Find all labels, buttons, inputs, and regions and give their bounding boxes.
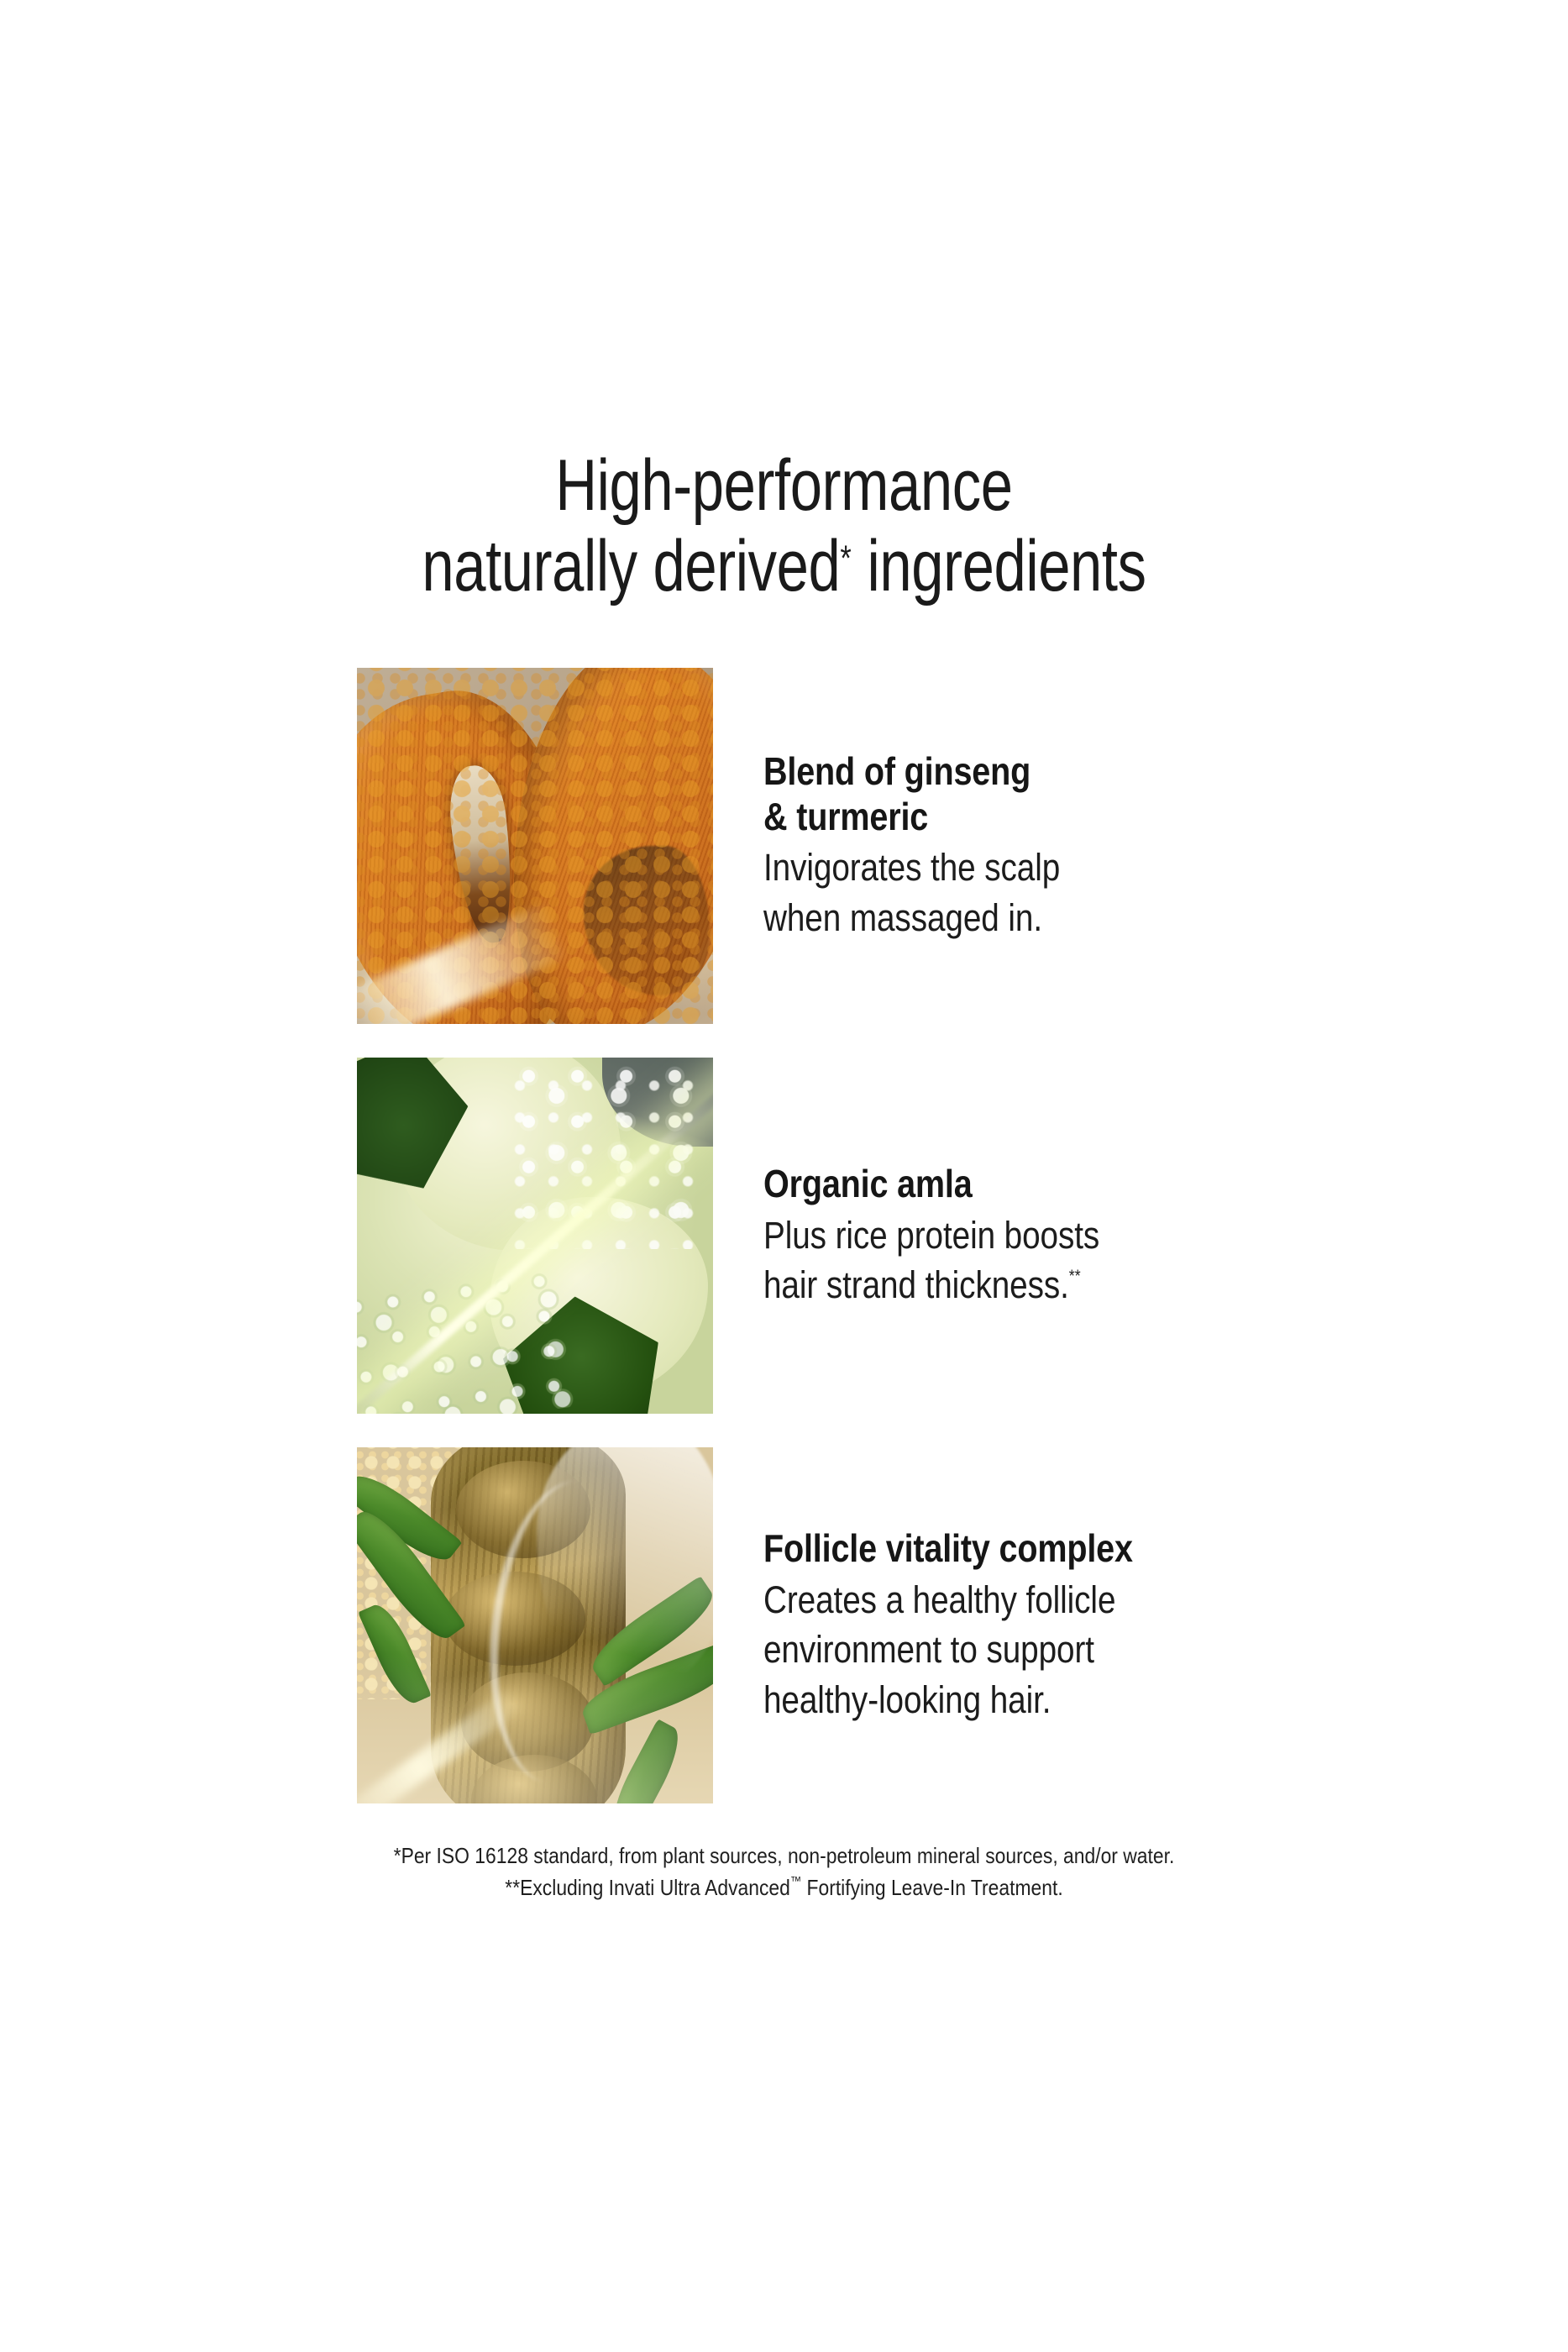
ingredient-description: Invigorates the scalp when massaged in. <box>763 843 1313 942</box>
ingredient-description-line-1: Plus rice protein boosts <box>763 1214 1099 1257</box>
footnote-line-1: *Per ISO 16128 standard, from plant sour… <box>94 1840 1474 1872</box>
footnotes: *Per ISO 16128 standard, from plant sour… <box>94 1840 1474 1904</box>
ingredient-row: Organic amla Plus rice protein boosts ha… <box>357 1058 1449 1414</box>
ingredient-description-line-3: healthy-looking hair. <box>763 1678 1051 1721</box>
ingredient-list: Blend of ginseng & turmeric Invigorates … <box>357 668 1449 1803</box>
ingredient-description: Plus rice protein boosts hair strand thi… <box>763 1210 1313 1310</box>
ingredient-copy: Follicle vitality complex Creates a heal… <box>763 1526 1313 1725</box>
ingredient-row: Blend of ginseng & turmeric Invigorates … <box>357 668 1449 1024</box>
golden-haze-overlay <box>357 1447 713 1803</box>
footnote-line-2-tail: Fortifying Leave-In Treatment. <box>801 1875 1063 1900</box>
ingredients-page: High-performance naturally derived* ingr… <box>0 0 1568 2352</box>
ingredient-description-line-1: Invigorates the scalp <box>763 846 1060 889</box>
ingredient-copy: Blend of ginseng & turmeric Invigorates … <box>763 749 1313 942</box>
footnote-line-2: **Excluding Invati Ultra Advanced™ Forti… <box>94 1872 1474 1903</box>
ingredient-description: Creates a healthy follicle environment t… <box>763 1575 1313 1725</box>
page-title-line-1: High-performance <box>157 445 1412 526</box>
trademark-icon: ™ <box>790 1875 801 1889</box>
footnote-marker-double-asterisk: ** <box>1069 1266 1081 1285</box>
page-title-line-2-text: naturally derived <box>422 526 840 606</box>
page-title: High-performance naturally derived* ingr… <box>157 445 1412 607</box>
footnote-line-2-text: **Excluding Invati Ultra Advanced <box>505 1875 790 1900</box>
page-title-line-2-tail: ingredients <box>852 526 1146 606</box>
ingredient-description-line-1: Creates a healthy follicle <box>763 1578 1115 1621</box>
ingredient-description-line-2: hair strand thickness. <box>763 1263 1069 1306</box>
ingredient-title-line-2: & turmeric <box>763 795 928 838</box>
ingredient-description-line-2: environment to support <box>763 1628 1094 1671</box>
ginseng-root-leaves-photo <box>357 1447 713 1803</box>
amla-bubbles-lower <box>357 1265 576 1414</box>
ingredient-row: Follicle vitality complex Creates a heal… <box>357 1447 1449 1803</box>
ingredient-title-line-1: Blend of ginseng <box>763 749 1030 793</box>
ingredient-description-line-2: when massaged in. <box>763 896 1042 939</box>
page-title-line-2: naturally derived* ingredients <box>157 526 1412 606</box>
ingredient-title: Follicle vitality complex <box>763 1526 1313 1572</box>
footnote-marker-asterisk: * <box>840 538 851 579</box>
ingredient-title: Blend of ginseng & turmeric <box>763 749 1313 840</box>
amla-fruit-photo <box>357 1058 713 1414</box>
amla-bubble-foam <box>513 1063 711 1249</box>
ingredient-copy: Organic amla Plus rice protein boosts ha… <box>763 1162 1313 1310</box>
turmeric-root-photo <box>357 668 713 1024</box>
ingredient-title: Organic amla <box>763 1162 1313 1207</box>
